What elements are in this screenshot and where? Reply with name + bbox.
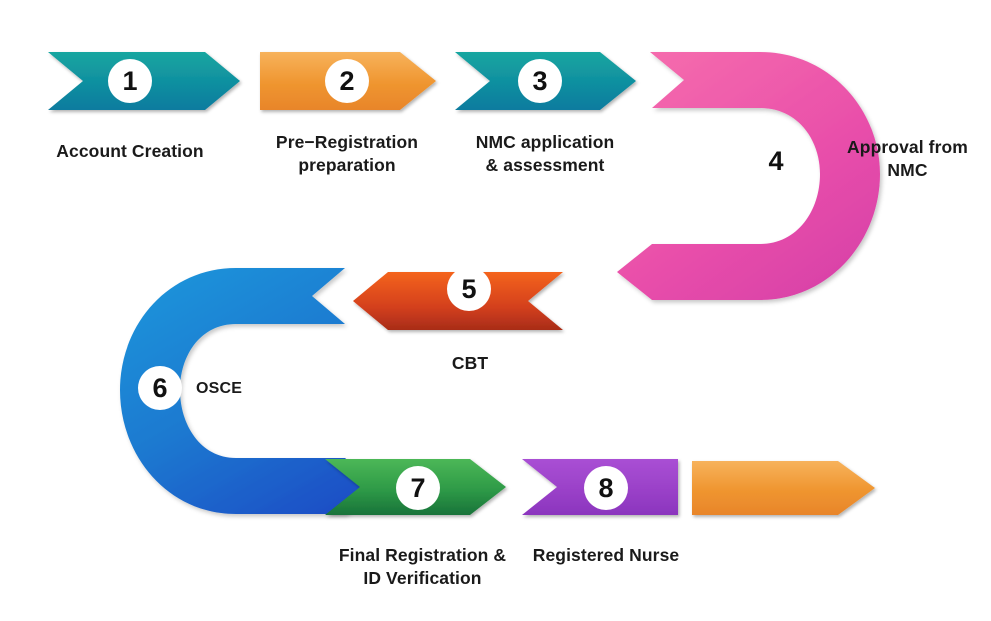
step-2-label: Pre−Registration preparation: [252, 131, 442, 178]
badge-5-number: 5: [461, 274, 476, 304]
badge-3: 3: [518, 59, 562, 103]
step-8-label: Registered Nurse: [518, 544, 694, 567]
flowchart-canvas: 1 2 3 4 5 6 7 8 Account C: [0, 0, 991, 621]
badge-4-number: 4: [768, 146, 783, 176]
badge-2: 2: [325, 59, 369, 103]
badge-2-number: 2: [339, 66, 354, 96]
badge-7-number: 7: [410, 473, 425, 503]
badge-8: 8: [584, 466, 628, 510]
flowchart-svg: 1 2 3 4 5 6 7 8: [0, 0, 991, 621]
badge-6-number: 6: [152, 373, 167, 403]
step-5-label: CBT: [400, 352, 540, 375]
badge-8-number: 8: [598, 473, 613, 503]
step-1-label: Account Creation: [35, 140, 225, 163]
step-3-label: NMC application & assessment: [450, 131, 640, 178]
badge-1: 1: [108, 59, 152, 103]
step-4-label: Approval from NMC: [830, 136, 985, 183]
badge-3-number: 3: [532, 66, 547, 96]
step-9-shape[interactable]: [692, 461, 875, 515]
badge-7: 7: [396, 466, 440, 510]
badge-4: 4: [754, 139, 798, 183]
step-7-label: Final Registration & ID Verification: [320, 544, 525, 591]
badge-5: 5: [447, 267, 491, 311]
step-6-label: OSCE: [196, 379, 296, 400]
badge-6: 6: [138, 366, 182, 410]
badge-1-number: 1: [122, 66, 137, 96]
